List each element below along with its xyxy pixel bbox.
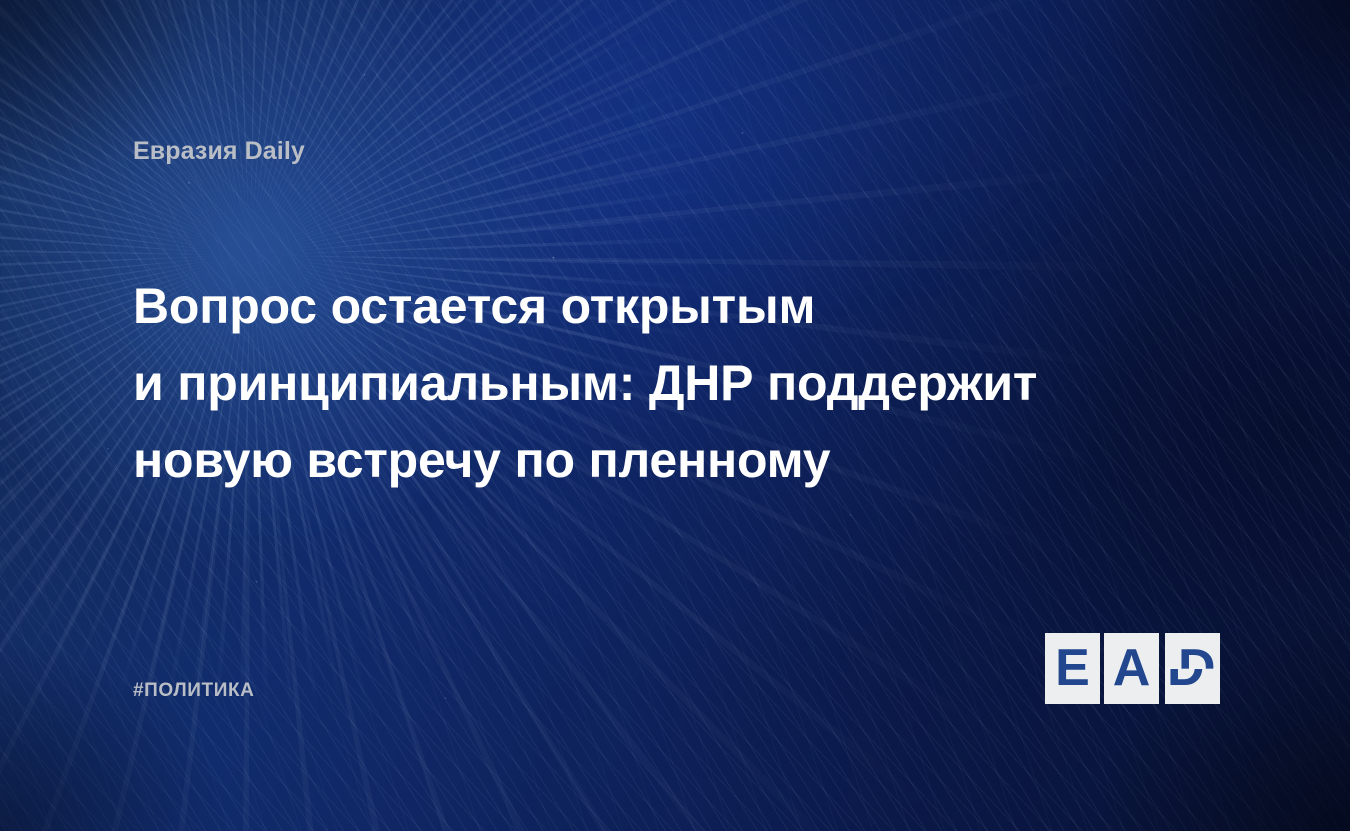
logo-letter-d-top-half: D <box>1165 633 1239 669</box>
eadaily-logo[interactable]: E A D D <box>1045 633 1225 704</box>
article-headline: Вопрос остается открытым и принципиальны… <box>133 268 1143 499</box>
card-content: Евразия Daily Вопрос остается открытым и… <box>0 0 1350 831</box>
social-share-card: Евразия Daily Вопрос остается открытым и… <box>0 0 1350 831</box>
logo-letter-d-bottom-glyph: D <box>1167 669 1239 704</box>
headline-line-2: и принципиальным: ДНР поддержит <box>133 345 1143 422</box>
headline-line-3: новую встречу по пленному <box>133 422 1143 499</box>
logo-tile-seam <box>1165 668 1220 669</box>
logo-letter-d-bottom-half: D <box>1165 669 1239 704</box>
logo-letter-e: E <box>1045 633 1100 704</box>
logo-letter-d-top-glyph: D <box>1178 633 1239 669</box>
category-hashtag[interactable]: #ПОЛИТИКА <box>133 680 255 702</box>
publication-brand: Евразия Daily <box>133 137 305 166</box>
headline-line-1: Вопрос остается открытым <box>133 268 1143 345</box>
logo-letter-a: A <box>1104 633 1159 704</box>
